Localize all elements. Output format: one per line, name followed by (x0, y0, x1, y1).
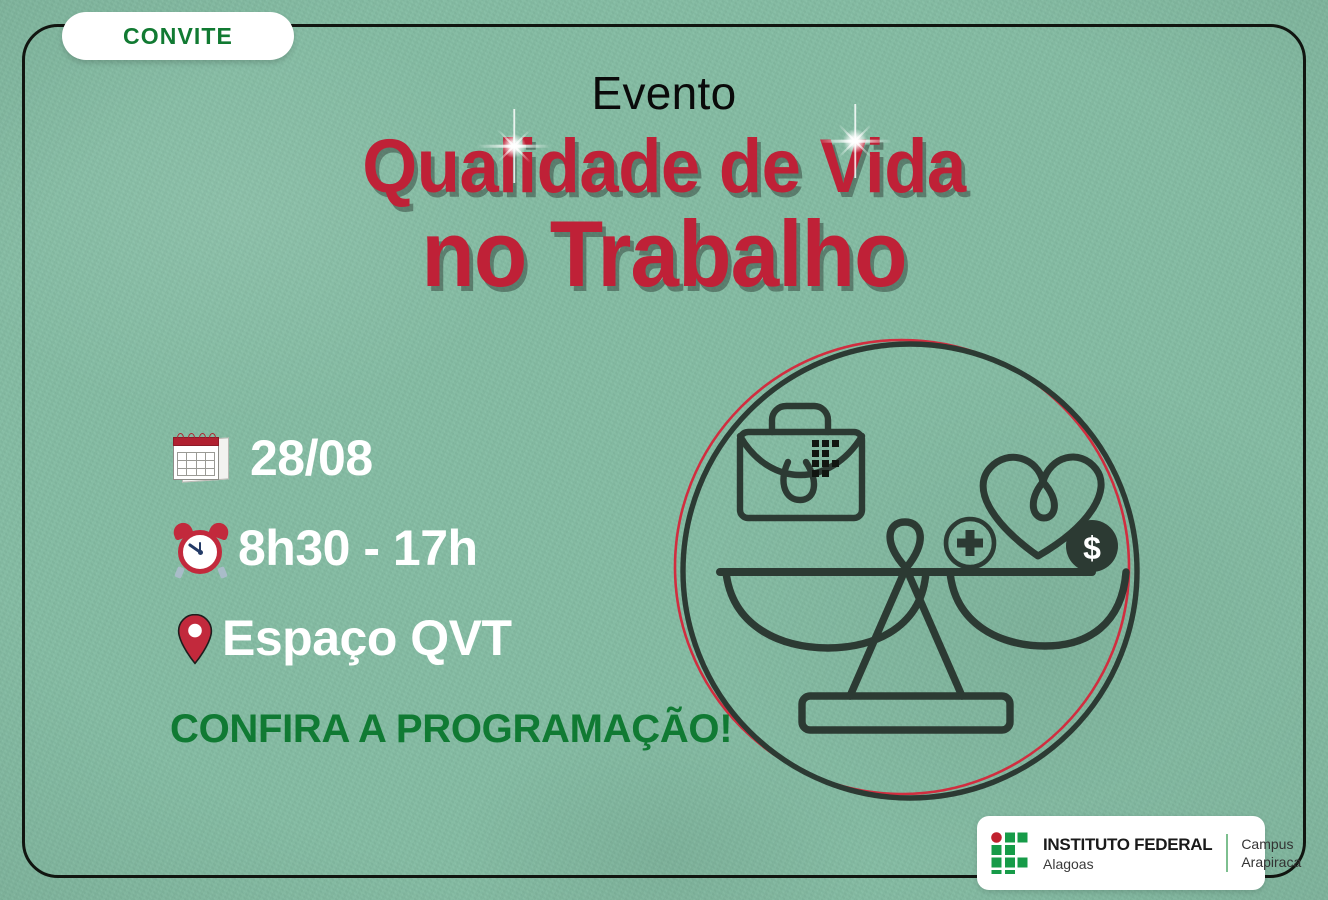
headline-block: Evento Qualidade de Vida no Trabalho (0, 70, 1328, 301)
scale-fulcrum-loop (890, 522, 920, 568)
title-line-2: no Trabalho (46, 208, 1281, 300)
event-info-list: 28/08 8h30 - 17h (168, 425, 512, 695)
info-row-date: 28/08 (168, 425, 512, 491)
location-pin-icon (168, 605, 218, 671)
info-place-value: Espaço QVT (222, 613, 512, 663)
briefcase-icon (740, 406, 862, 518)
logo-campus-line2: Arapiraca (1241, 853, 1301, 871)
convite-badge-label: CONVITE (123, 23, 233, 50)
medical-plus-badge (946, 519, 994, 567)
poster-canvas: CONVITE Evento Qualidade de Vida no Trab… (0, 0, 1328, 900)
alarm-clock-icon (168, 515, 234, 581)
logo-institute-name: INSTITUTO FEDERAL (1043, 836, 1212, 853)
scale-stem (850, 568, 962, 696)
ifal-logo-card: INSTITUTO FEDERAL Alagoas Campus Arapira… (977, 816, 1265, 890)
eyebrow-text: Evento (0, 70, 1328, 116)
scale-right-pan (950, 572, 1126, 646)
info-row-time: 8h30 - 17h (168, 515, 512, 581)
svg-text:$: $ (1083, 530, 1101, 566)
ifal-dot-pattern (812, 440, 839, 477)
title-line-1: Qualidade de Vida (46, 130, 1281, 204)
work-life-balance-illustration: $ (660, 336, 1152, 806)
scale-base (802, 696, 1010, 730)
logo-divider (1226, 834, 1228, 872)
logo-campus-line1: Campus (1241, 835, 1301, 853)
logo-state-name: Alagoas (1043, 857, 1212, 871)
logo-campus: Campus Arapiraca (1241, 835, 1301, 872)
ifal-logo-mark (991, 832, 1031, 874)
info-date-value: 28/08 (250, 433, 373, 483)
calendar-icon (168, 425, 234, 491)
info-row-place: Espaço QVT (168, 605, 512, 671)
info-time-value: 8h30 - 17h (238, 523, 478, 573)
convite-badge: CONVITE (62, 12, 294, 60)
money-badge: $ (1066, 520, 1118, 572)
cta-text: CONFIRA A PROGRAMAÇÃO! (170, 707, 732, 752)
